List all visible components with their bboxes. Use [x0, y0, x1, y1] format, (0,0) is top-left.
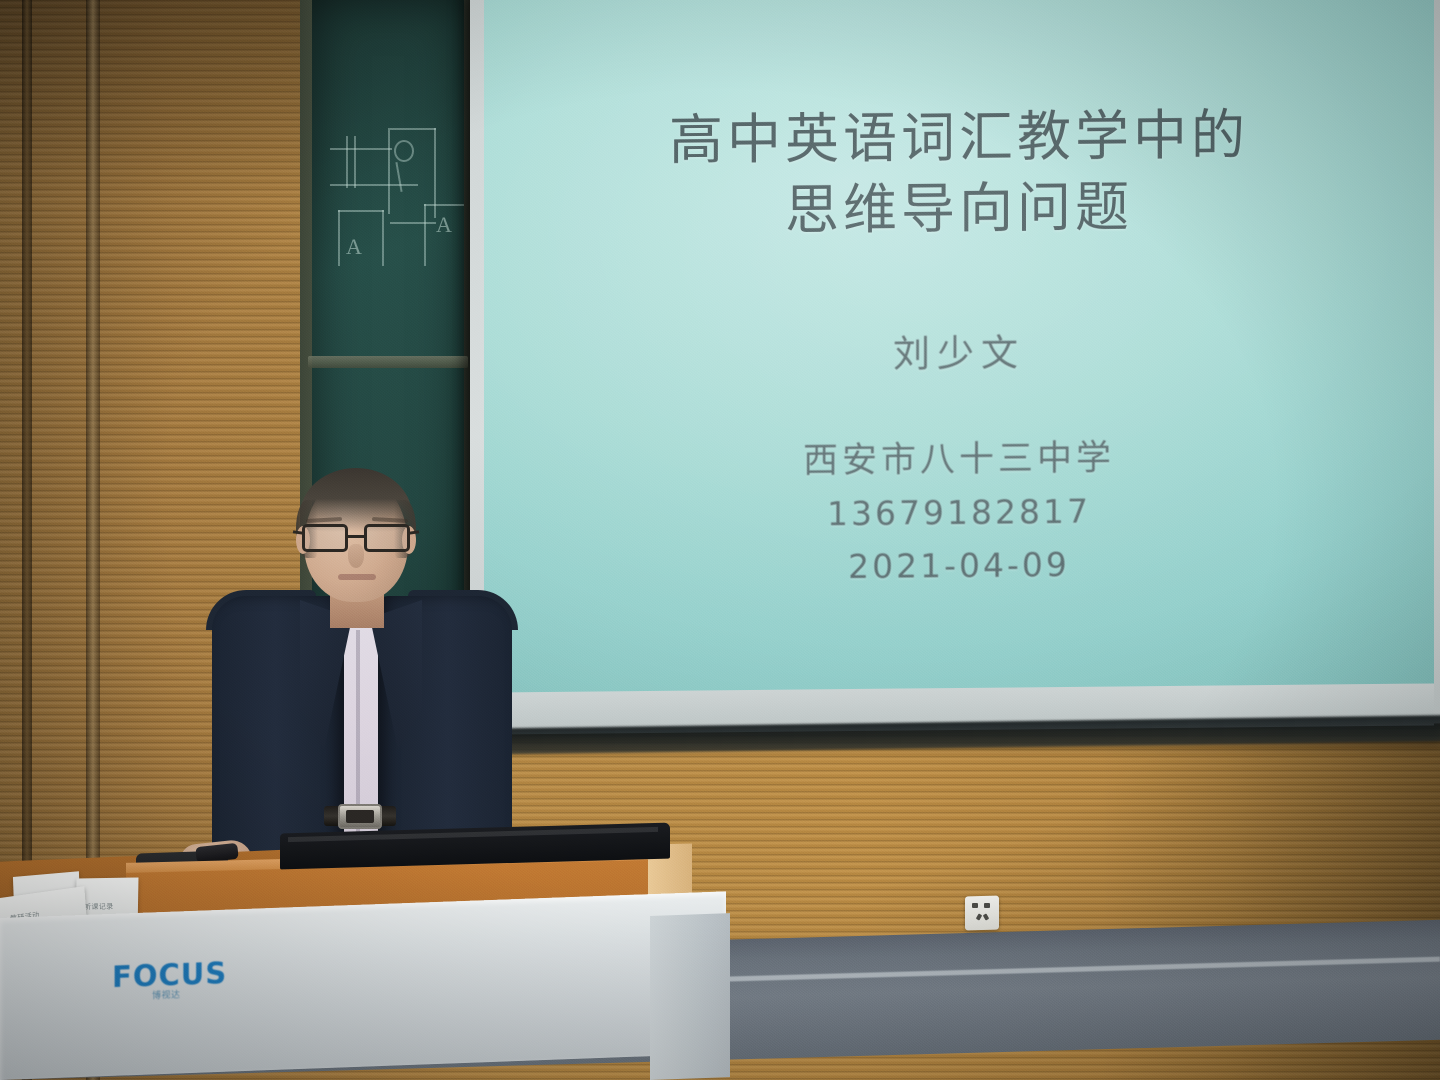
- slide-date: 2021-04-09: [803, 541, 1115, 592]
- belt-buckle-inner: [346, 810, 374, 823]
- chalk-line-10: [338, 210, 384, 212]
- chalk-line-5: [388, 128, 390, 214]
- chalk-line-8: [338, 210, 340, 266]
- chalk-letter-a-right: A: [436, 214, 452, 236]
- podium-body: [0, 891, 726, 1080]
- outlet-slot-1: [972, 903, 978, 908]
- chalk-line-7: [390, 128, 436, 130]
- chalk-line-11: [424, 204, 426, 266]
- chalk-line-3: [346, 136, 348, 188]
- podium-brand-sublabel: 博视达: [152, 987, 181, 1001]
- mouth: [338, 574, 376, 580]
- classroom-photo-scene: A A 高中英语词汇教学中的 思维导向问题 刘少文 西安市八十三中学 13679…: [0, 0, 1440, 1080]
- name-card-2-text: 听课记录: [84, 902, 114, 913]
- chalk-circle: [394, 140, 414, 162]
- slide-phone-number: 13679182817: [803, 487, 1115, 538]
- lens-left: [302, 524, 348, 552]
- glasses-bridge: [348, 535, 366, 538]
- slide-metadata: 西安市八十三中学 13679182817 2021-04-09: [803, 433, 1115, 591]
- blackboard-rail: [308, 356, 468, 368]
- chalk-letter-a-left: A: [346, 236, 362, 258]
- slide-title: 高中英语词汇教学中的 思维导向问题: [669, 99, 1249, 247]
- slide-school-name: 西安市八十三中学: [803, 433, 1115, 486]
- wall-power-outlet-icon: [965, 896, 999, 931]
- chalk-line-1: [330, 148, 392, 150]
- chalk-stem: [395, 162, 402, 192]
- chalk-line-9: [382, 210, 384, 266]
- chalk-line-13: [390, 222, 436, 224]
- glasses-temple-left: [293, 530, 303, 534]
- slide-title-line-1: 高中英语词汇教学中的: [669, 99, 1249, 176]
- outlet-slot-2: [984, 903, 990, 908]
- slide-author-name: 刘少文: [893, 322, 1025, 377]
- chalk-line-12: [424, 204, 464, 206]
- slide-title-line-2: 思维导向问题: [669, 170, 1249, 247]
- chalk-line-4: [354, 136, 356, 188]
- slide-content: 高中英语词汇教学中的 思维导向问题 刘少文 西安市八十三中学 136791828…: [484, 0, 1434, 695]
- chalk-line-2: [330, 184, 418, 186]
- nose: [348, 544, 364, 568]
- podium-side-face: [650, 913, 730, 1080]
- lens-right: [364, 524, 410, 552]
- projection-screen-surface: 高中英语词汇教学中的 思维导向问题 刘少文 西安市八十三中学 136791828…: [484, 0, 1434, 695]
- glasses-temple-right: [409, 530, 419, 534]
